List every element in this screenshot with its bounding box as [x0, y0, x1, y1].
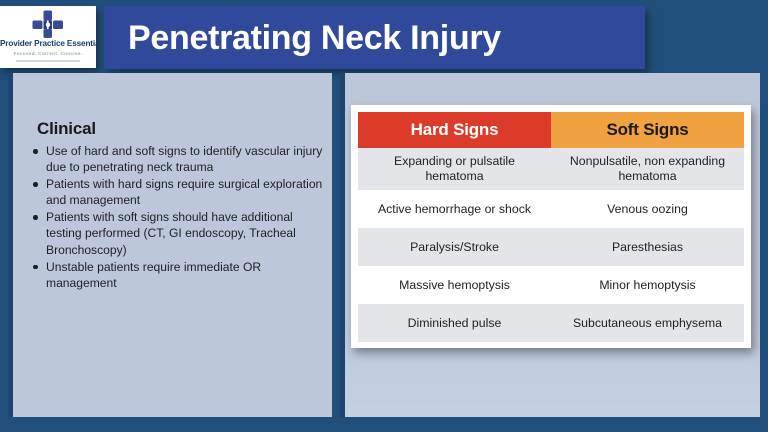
- table-row: Massive hemoptysis Minor hemoptysis: [358, 266, 744, 304]
- table-header-row: Hard Signs Soft Signs: [358, 112, 744, 148]
- column-header-hard-signs: Hard Signs: [358, 112, 551, 148]
- clinical-panel: Clinical Use of hard and soft signs to i…: [8, 73, 332, 417]
- cell-soft-sign: Subcutaneous emphysema: [551, 304, 744, 342]
- cell-soft-sign: Minor hemoptysis: [551, 266, 744, 304]
- signs-table-card: Hard Signs Soft Signs Expanding or pulsa…: [351, 105, 751, 348]
- column-header-soft-signs: Soft Signs: [551, 112, 744, 148]
- list-item: Use of hard and soft signs to identify v…: [31, 143, 323, 175]
- logo-tagline-text: Focused. Current. Concise.: [0, 51, 96, 56]
- cell-hard-sign: Paralysis/Stroke: [358, 228, 551, 266]
- list-item: Patients with hard signs require surgica…: [31, 176, 323, 208]
- signs-panel: Hard Signs Soft Signs Expanding or pulsa…: [340, 73, 760, 417]
- table-body: Expanding or pulsatile hematoma Nonpulsa…: [358, 148, 744, 342]
- table-row: Paralysis/Stroke Paresthesias: [358, 228, 744, 266]
- signs-table: Hard Signs Soft Signs Expanding or pulsa…: [358, 112, 744, 342]
- logo-divider: [16, 60, 80, 62]
- cell-soft-sign: Paresthesias: [551, 228, 744, 266]
- cell-hard-sign: Diminished pulse: [358, 304, 551, 342]
- cell-soft-sign: Venous oozing: [551, 190, 744, 228]
- slide-title-bar: Penetrating Neck Injury: [104, 6, 645, 69]
- list-item: Patients with soft signs should have add…: [31, 209, 323, 257]
- cell-hard-sign: Active hemorrhage or shock: [358, 190, 551, 228]
- table-row: Diminished pulse Subcutaneous emphysema: [358, 304, 744, 342]
- slide-canvas: Penetrating Neck Injury Provider Practic…: [0, 0, 768, 432]
- page-title: Penetrating Neck Injury: [104, 21, 501, 55]
- list-item: Unstable patients require immediate OR m…: [31, 259, 323, 291]
- cell-hard-sign: Massive hemoptysis: [358, 266, 551, 304]
- clinical-heading: Clinical: [37, 119, 96, 139]
- medical-cross-icon: [31, 9, 65, 39]
- clinical-bullet-list: Use of hard and soft signs to identify v…: [31, 143, 323, 292]
- table-header: Hard Signs Soft Signs: [358, 112, 744, 148]
- table-row: Expanding or pulsatile hematoma Nonpulsa…: [358, 148, 744, 190]
- cell-soft-sign: Nonpulsatile, non expanding hematoma: [551, 148, 744, 190]
- table-row: Active hemorrhage or shock Venous oozing: [358, 190, 744, 228]
- logo-name-text: Provider Practice Essentials: [0, 39, 96, 48]
- cell-hard-sign: Expanding or pulsatile hematoma: [358, 148, 551, 190]
- brand-logo: Provider Practice Essentials Focused. Cu…: [0, 6, 96, 68]
